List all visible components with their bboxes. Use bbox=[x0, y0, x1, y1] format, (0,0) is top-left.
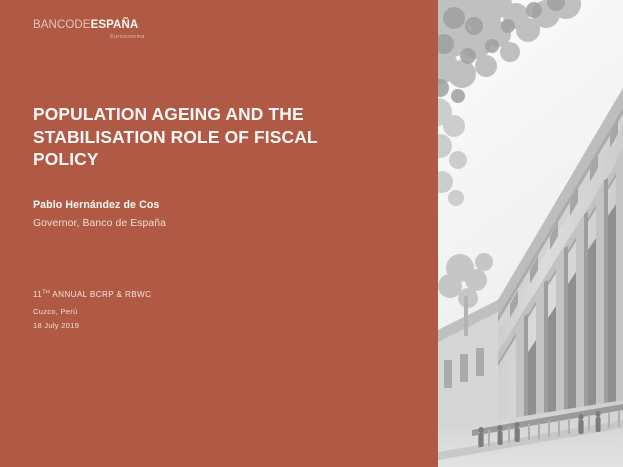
banco-de-espana-logo: BANCODEESPAÑA Eurosistema bbox=[33, 19, 145, 40]
event-name-rest: ANNUAL BCRP & RBWC bbox=[50, 290, 151, 299]
event-name: 11TH ANNUAL BCRP & RBWC bbox=[33, 289, 363, 300]
presentation-slide: BANCODEESPAÑA Eurosistema POPULATION AGE… bbox=[0, 0, 623, 467]
author-block: Pablo Hernández de Cos Governor, Banco d… bbox=[33, 198, 363, 231]
logo-word-bold: ESPAÑA bbox=[91, 19, 139, 31]
event-block: 11TH ANNUAL BCRP & RBWC Cuzco, Perú 18 J… bbox=[33, 289, 363, 331]
author-role: Governor, Banco de España bbox=[33, 217, 363, 231]
event-ordinal: 11 bbox=[33, 290, 42, 299]
logo-word-light: BANCODE bbox=[33, 19, 91, 31]
title-panel: BANCODEESPAÑA Eurosistema POPULATION AGE… bbox=[0, 0, 438, 467]
page-title: POPULATION AGEING AND THE STABILISATION … bbox=[33, 103, 363, 171]
logo-wordmark: BANCODEESPAÑA bbox=[33, 19, 145, 32]
logo-subtitle: Eurosistema bbox=[33, 34, 145, 40]
event-location: Cuzco, Perú bbox=[33, 306, 363, 317]
building-photo bbox=[438, 0, 623, 467]
event-date: 18 July 2019 bbox=[33, 320, 363, 331]
event-ordinal-suffix: TH bbox=[42, 289, 50, 295]
author-name: Pablo Hernández de Cos bbox=[33, 198, 363, 213]
building-photo-graphic bbox=[438, 0, 623, 467]
